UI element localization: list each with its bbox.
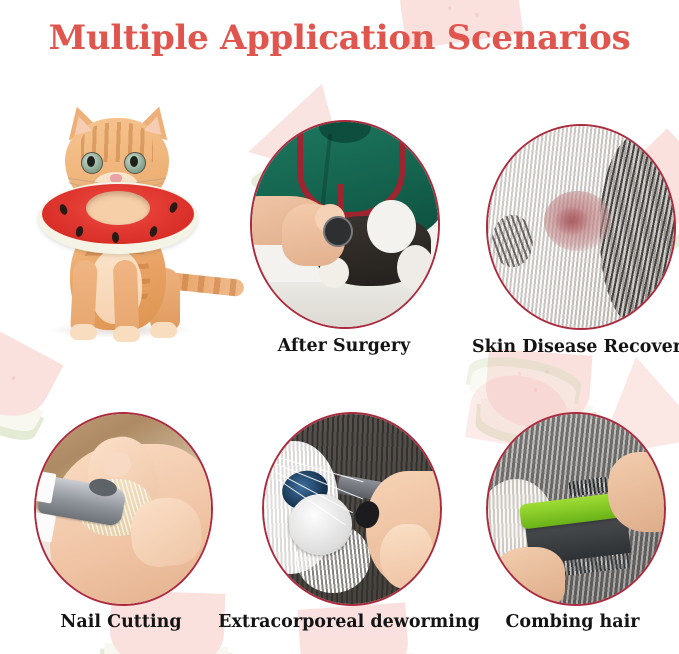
after-surgery-photo bbox=[252, 122, 438, 327]
combing-hair-photo bbox=[488, 414, 664, 604]
kitten-photo bbox=[18, 100, 233, 355]
kitten-front-leg-right bbox=[113, 260, 139, 333]
page-title: Multiple Application Scenarios bbox=[0, 18, 679, 58]
scenario-card-extracorporeal-deworming: Extracorporeal deworming bbox=[216, 412, 482, 642]
caption-combing-hair: Combing hair bbox=[466, 612, 679, 632]
skin-disease-photo bbox=[488, 126, 674, 328]
kitten-front-leg-left bbox=[70, 259, 98, 332]
kitten-pupil-right bbox=[130, 156, 138, 167]
deworming-photo bbox=[264, 414, 440, 604]
nail-cutting-photo bbox=[36, 414, 211, 604]
stethoscope-chestpiece bbox=[323, 216, 353, 247]
human-thumb bbox=[492, 547, 566, 604]
deworming-photo-frame[interactable] bbox=[262, 412, 442, 606]
kitten-paw-right bbox=[113, 326, 140, 342]
kitten-pupil-left bbox=[87, 156, 95, 167]
after-surgery-photo-frame[interactable] bbox=[250, 120, 440, 329]
infographic-page: Multiple Application Scenarios bbox=[0, 0, 679, 654]
caption-after-surgery: After Surgery bbox=[244, 336, 444, 356]
nail-cutting-photo-frame[interactable] bbox=[34, 412, 213, 606]
kitten-paw-left bbox=[70, 324, 97, 340]
watermelon-recovery-collar bbox=[38, 182, 198, 254]
scenario-card-skin-disease-recovery: Skin Disease Recovery bbox=[472, 124, 679, 360]
scenario-card-nail-cutting: Nail Cutting bbox=[8, 412, 234, 642]
scenario-card-combing-hair: Combing hair bbox=[466, 412, 679, 642]
caption-nail-cutting: Nail Cutting bbox=[8, 612, 234, 632]
caption-extracorporeal-deworming: Extracorporeal deworming bbox=[216, 612, 482, 632]
scenario-card-after-surgery: After Surgery bbox=[244, 120, 444, 360]
kitten-paw-back bbox=[150, 322, 177, 338]
caption-skin-disease-recovery: Skin Disease Recovery bbox=[472, 337, 679, 357]
skin-disease-photo-frame[interactable] bbox=[486, 124, 676, 330]
combing-hair-photo-frame[interactable] bbox=[486, 412, 666, 606]
